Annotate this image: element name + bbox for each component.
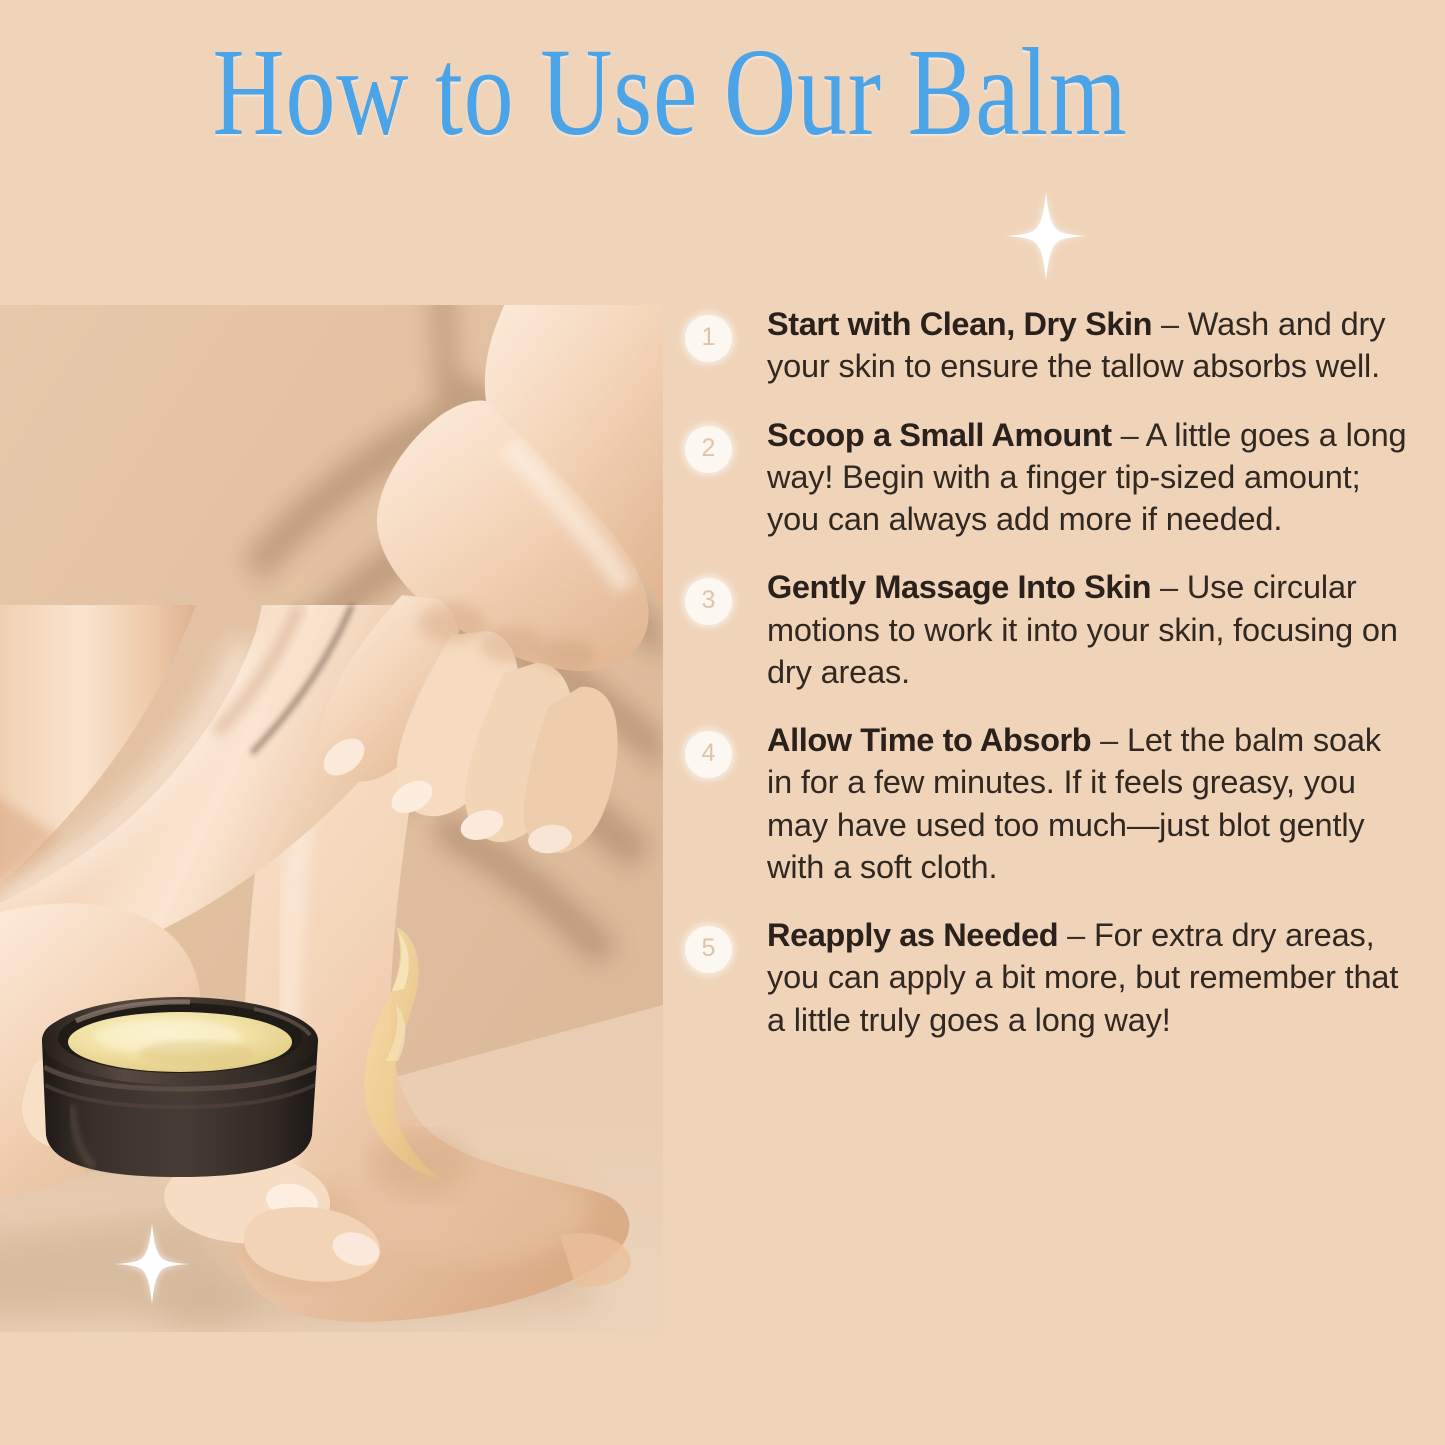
step-text: Reapply as Needed – For extra dry areas,… — [767, 914, 1410, 1041]
page-title: How to Use Our Balm — [134, 28, 1206, 159]
step-text: Allow Time to Absorb – Let the balm soak… — [767, 719, 1410, 888]
step-dash: – — [1112, 417, 1146, 453]
step-heading: Scoop a Small Amount — [767, 417, 1112, 453]
list-item: 1 Start with Clean, Dry Skin – Wash and … — [685, 303, 1410, 388]
step-number-badge: 1 — [685, 315, 732, 362]
step-heading: Reapply as Needed — [767, 917, 1058, 953]
step-dash: – — [1152, 306, 1188, 342]
step-number: 1 — [702, 325, 716, 352]
list-item: 3 Gently Massage Into Skin – Use circula… — [685, 566, 1410, 693]
step-number-badge: 4 — [685, 731, 732, 778]
step-text: Scoop a Small Amount – A little goes a l… — [767, 414, 1410, 541]
list-item: 4 Allow Time to Absorb – Let the balm so… — [685, 719, 1410, 888]
step-number: 3 — [702, 588, 716, 615]
list-item: 2 Scoop a Small Amount – A little goes a… — [685, 414, 1410, 541]
step-number-badge: 2 — [685, 426, 732, 473]
step-heading: Allow Time to Absorb — [767, 722, 1091, 758]
step-dash: – — [1151, 569, 1187, 605]
step-dash: – — [1091, 722, 1127, 758]
step-text: Gently Massage Into Skin – Use circular … — [767, 566, 1410, 693]
step-dash: – — [1058, 917, 1094, 953]
header-band: How to Use Our Balm — [0, 0, 1445, 305]
product-usage-photo — [0, 305, 663, 1332]
list-item: 5 Reapply as Needed – For extra dry area… — [685, 914, 1410, 1041]
steps-list: 1 Start with Clean, Dry Skin – Wash and … — [685, 303, 1410, 1041]
step-number-badge: 5 — [685, 926, 732, 973]
step-heading: Gently Massage Into Skin — [767, 569, 1151, 605]
step-number-badge: 3 — [685, 578, 732, 625]
step-number: 5 — [702, 936, 716, 963]
step-text: Start with Clean, Dry Skin – Wash and dr… — [767, 303, 1410, 388]
step-heading: Start with Clean, Dry Skin — [767, 306, 1152, 342]
step-number: 2 — [702, 436, 716, 463]
step-number: 4 — [702, 741, 716, 768]
